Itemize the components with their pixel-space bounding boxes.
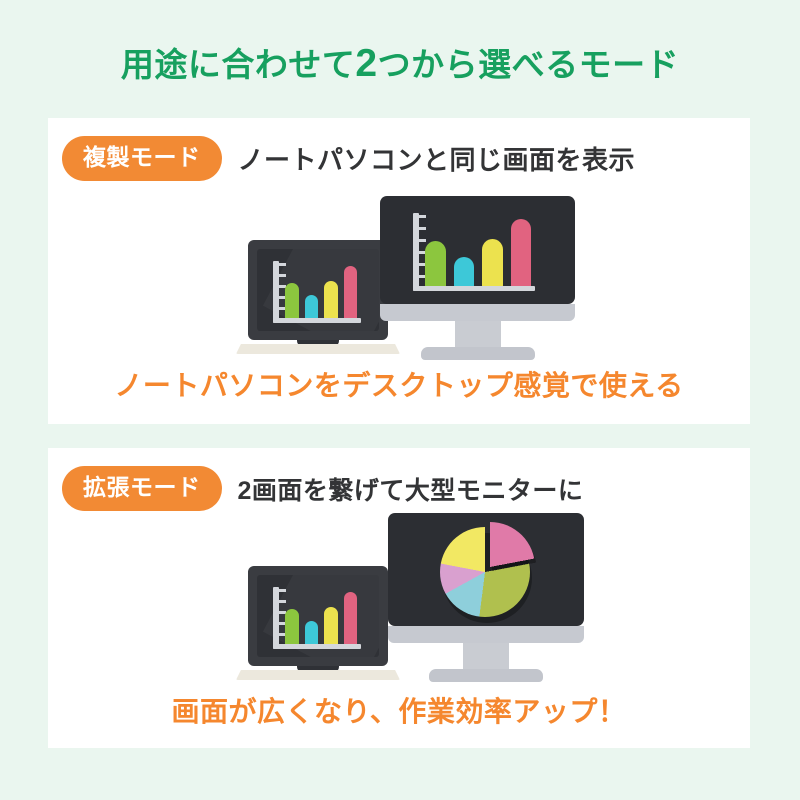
pie-exploded-wedge — [445, 522, 535, 612]
laptop-keyboard-base — [236, 344, 400, 354]
monitor-bezel — [380, 304, 575, 321]
page-root: { "page": { "background_color": "#eaf6ef… — [0, 0, 800, 800]
mode-caption-extend: 画面が広くなり、作業効率アップ！ — [48, 690, 750, 730]
page-title-part2: つから選べるモード — [378, 46, 680, 83]
chart-x-axis — [413, 286, 535, 291]
bar-chart-bars — [285, 587, 357, 644]
monitor-screen — [388, 513, 584, 626]
bar-1 — [285, 283, 299, 318]
laptop-lid — [248, 566, 388, 666]
page-title: 用途に合わせて2つから選べるモード — [0, 38, 800, 86]
bar-2 — [454, 257, 475, 286]
bar-1 — [285, 609, 299, 644]
page-title-number: 2 — [355, 42, 377, 85]
bar-3 — [482, 239, 503, 286]
bar-chart-laptop-card2 — [273, 587, 361, 649]
pie-chart-monitor-card2 — [440, 527, 530, 617]
pie-slice-exploded-pink — [445, 522, 535, 612]
mode-caption-duplicate: ノートパソコンをデスクトップ感覚で使える — [48, 364, 750, 404]
bar-4 — [344, 266, 358, 318]
mode-card-duplicate: 複製モード ノートパソコンと同じ画面を表示 — [48, 118, 750, 424]
laptop-screen — [257, 249, 379, 331]
bar-chart-bars — [285, 261, 357, 318]
monitor-stand-base — [429, 669, 543, 682]
bar-3 — [324, 281, 338, 318]
laptop-screen — [257, 575, 379, 657]
mode-card-extend: 拡張モード 2画面を繋げて大型モニターに — [48, 448, 750, 748]
chart-x-axis — [273, 318, 361, 323]
chart-x-axis — [273, 644, 361, 649]
bar-4 — [344, 592, 358, 644]
bar-4 — [511, 219, 532, 286]
laptop-keyboard-base — [236, 670, 400, 680]
monitor-stand-neck — [463, 643, 509, 669]
bar-chart-laptop-card1 — [273, 261, 361, 323]
monitor-bezel — [388, 626, 584, 643]
bar-chart-monitor-card1 — [413, 213, 535, 291]
bar-1 — [425, 241, 446, 286]
bar-2 — [305, 621, 319, 644]
monitor-screen — [380, 196, 575, 304]
bar-chart-bars — [425, 213, 531, 286]
chart-y-axis — [273, 261, 279, 323]
bar-2 — [305, 295, 319, 318]
page-title-part1: 用途に合わせて — [121, 46, 356, 83]
bar-3 — [324, 607, 338, 644]
monitor-stand-neck — [455, 321, 501, 347]
monitor-stand-base — [421, 347, 535, 360]
chart-y-axis — [273, 587, 279, 649]
laptop-lid — [248, 240, 388, 340]
